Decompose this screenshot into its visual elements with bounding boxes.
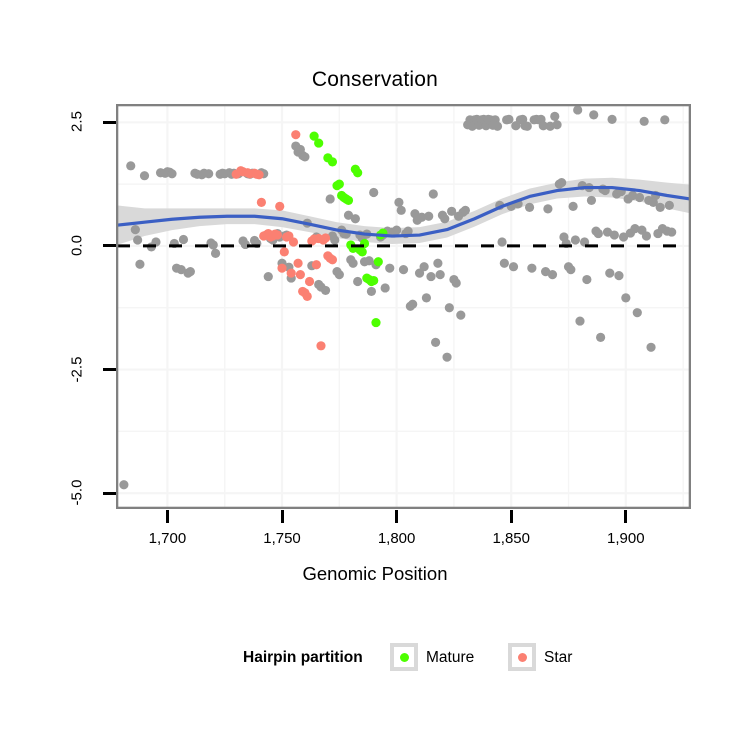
data-point [493, 122, 502, 131]
data-point [328, 255, 337, 264]
data-point [296, 270, 305, 279]
data-point [140, 171, 149, 180]
x-tick-label: 1,900 [586, 530, 666, 547]
x-tick-label: 1,850 [471, 530, 551, 547]
data-point [374, 257, 383, 266]
data-point [335, 270, 344, 279]
data-point [589, 110, 598, 119]
data-point [607, 115, 616, 124]
panel-background [117, 105, 690, 508]
data-point [509, 262, 518, 271]
x-tick-mark [395, 510, 398, 523]
legend-title: Hairpin partition [243, 649, 363, 667]
data-point [209, 240, 218, 249]
data-point [431, 338, 440, 347]
data-point [433, 259, 442, 268]
data-point [369, 276, 378, 285]
data-point [275, 202, 284, 211]
y-tick-mark [103, 121, 116, 124]
y-tick-label: -5.0 [69, 471, 86, 515]
data-point [328, 157, 337, 166]
data-point [280, 247, 289, 256]
data-point [429, 189, 438, 198]
data-point [550, 112, 559, 121]
data-point [424, 212, 433, 221]
plot-panel [116, 104, 691, 509]
data-point [426, 272, 435, 281]
data-point [667, 227, 676, 236]
data-point [552, 120, 561, 129]
data-point [300, 152, 309, 161]
x-tick-label: 1,750 [242, 530, 322, 547]
x-tick-mark [166, 510, 169, 523]
page-title: Conservation [0, 68, 750, 92]
data-point [179, 235, 188, 244]
data-point [408, 300, 417, 309]
data-point [326, 194, 335, 203]
x-tick-label: 1,700 [127, 530, 207, 547]
data-point [291, 130, 300, 139]
legend-label-star[interactable]: Star [544, 649, 572, 667]
data-point [500, 259, 509, 268]
data-point [543, 204, 552, 213]
data-point [646, 343, 655, 352]
data-point [316, 341, 325, 350]
legend-dot-mature [400, 653, 409, 662]
y-tick-label: 2.5 [69, 100, 86, 144]
y-tick-label: -2.5 [69, 347, 86, 391]
data-point [303, 292, 312, 301]
data-point [330, 235, 339, 244]
y-tick-mark [103, 492, 116, 495]
data-point [264, 272, 273, 281]
data-point [167, 169, 176, 178]
data-point [353, 277, 362, 286]
x-tick-mark [624, 510, 627, 523]
data-point [582, 275, 591, 284]
data-point [656, 203, 665, 212]
data-point [335, 180, 344, 189]
x-axis-label: Genomic Position [0, 563, 750, 585]
data-point [436, 270, 445, 279]
data-point [596, 333, 605, 342]
y-tick-mark [103, 368, 116, 371]
data-point [456, 311, 465, 320]
data-point [348, 259, 357, 268]
data-point [344, 196, 353, 205]
data-point [527, 264, 536, 273]
data-point [131, 225, 140, 234]
data-point [305, 277, 314, 286]
data-point [257, 198, 266, 207]
data-point [321, 286, 330, 295]
data-point [566, 265, 575, 274]
data-point [211, 249, 220, 258]
data-point [135, 260, 144, 269]
data-point [255, 170, 264, 179]
legend-label-mature[interactable]: Mature [426, 649, 474, 667]
data-point [575, 316, 584, 325]
data-point [312, 260, 321, 269]
data-point [660, 115, 669, 124]
data-point [665, 201, 674, 210]
y-tick-mark [103, 244, 116, 247]
data-point [497, 237, 506, 246]
data-point [445, 303, 454, 312]
data-point [573, 105, 582, 114]
data-point [640, 117, 649, 126]
data-point [452, 278, 461, 287]
data-point [525, 203, 534, 212]
legend-dot-star [518, 653, 527, 662]
data-point [385, 264, 394, 273]
data-point [392, 226, 401, 235]
data-point [204, 169, 213, 178]
data-point [394, 198, 403, 207]
data-point [371, 318, 380, 327]
data-point [642, 231, 651, 240]
y-tick-label: 0.0 [69, 223, 86, 267]
data-point [351, 214, 360, 223]
data-point [367, 287, 376, 296]
data-point [621, 293, 630, 302]
data-point [369, 188, 378, 197]
data-point [289, 237, 298, 246]
x-tick-mark [281, 510, 284, 523]
conservation-scatter-figure: Conservation phyloP LRT conservation sco… [0, 0, 750, 750]
data-point [133, 235, 142, 244]
data-point [635, 193, 644, 202]
data-point [422, 293, 431, 302]
data-point [321, 233, 330, 242]
data-point [420, 262, 429, 271]
data-point [557, 178, 566, 187]
data-point [614, 271, 623, 280]
data-point [119, 480, 128, 489]
data-point [358, 247, 367, 256]
data-point [314, 138, 323, 147]
data-point [504, 115, 513, 124]
data-point [126, 161, 135, 170]
data-point [293, 259, 302, 268]
data-point [440, 214, 449, 223]
data-point [569, 202, 578, 211]
data-point [605, 269, 614, 278]
data-point [287, 269, 296, 278]
data-point [399, 265, 408, 274]
data-point [461, 206, 470, 215]
data-point [610, 230, 619, 239]
data-point [397, 206, 406, 215]
data-point [353, 168, 362, 177]
data-point [277, 264, 286, 273]
data-point [442, 353, 451, 362]
data-point [587, 196, 596, 205]
data-point [548, 270, 557, 279]
data-point [594, 229, 603, 238]
data-point [523, 122, 532, 131]
data-point [273, 230, 282, 239]
x-tick-mark [510, 510, 513, 523]
data-point [381, 283, 390, 292]
data-point [633, 308, 642, 317]
data-point [186, 267, 195, 276]
x-tick-label: 1,800 [357, 530, 437, 547]
data-point [571, 235, 580, 244]
